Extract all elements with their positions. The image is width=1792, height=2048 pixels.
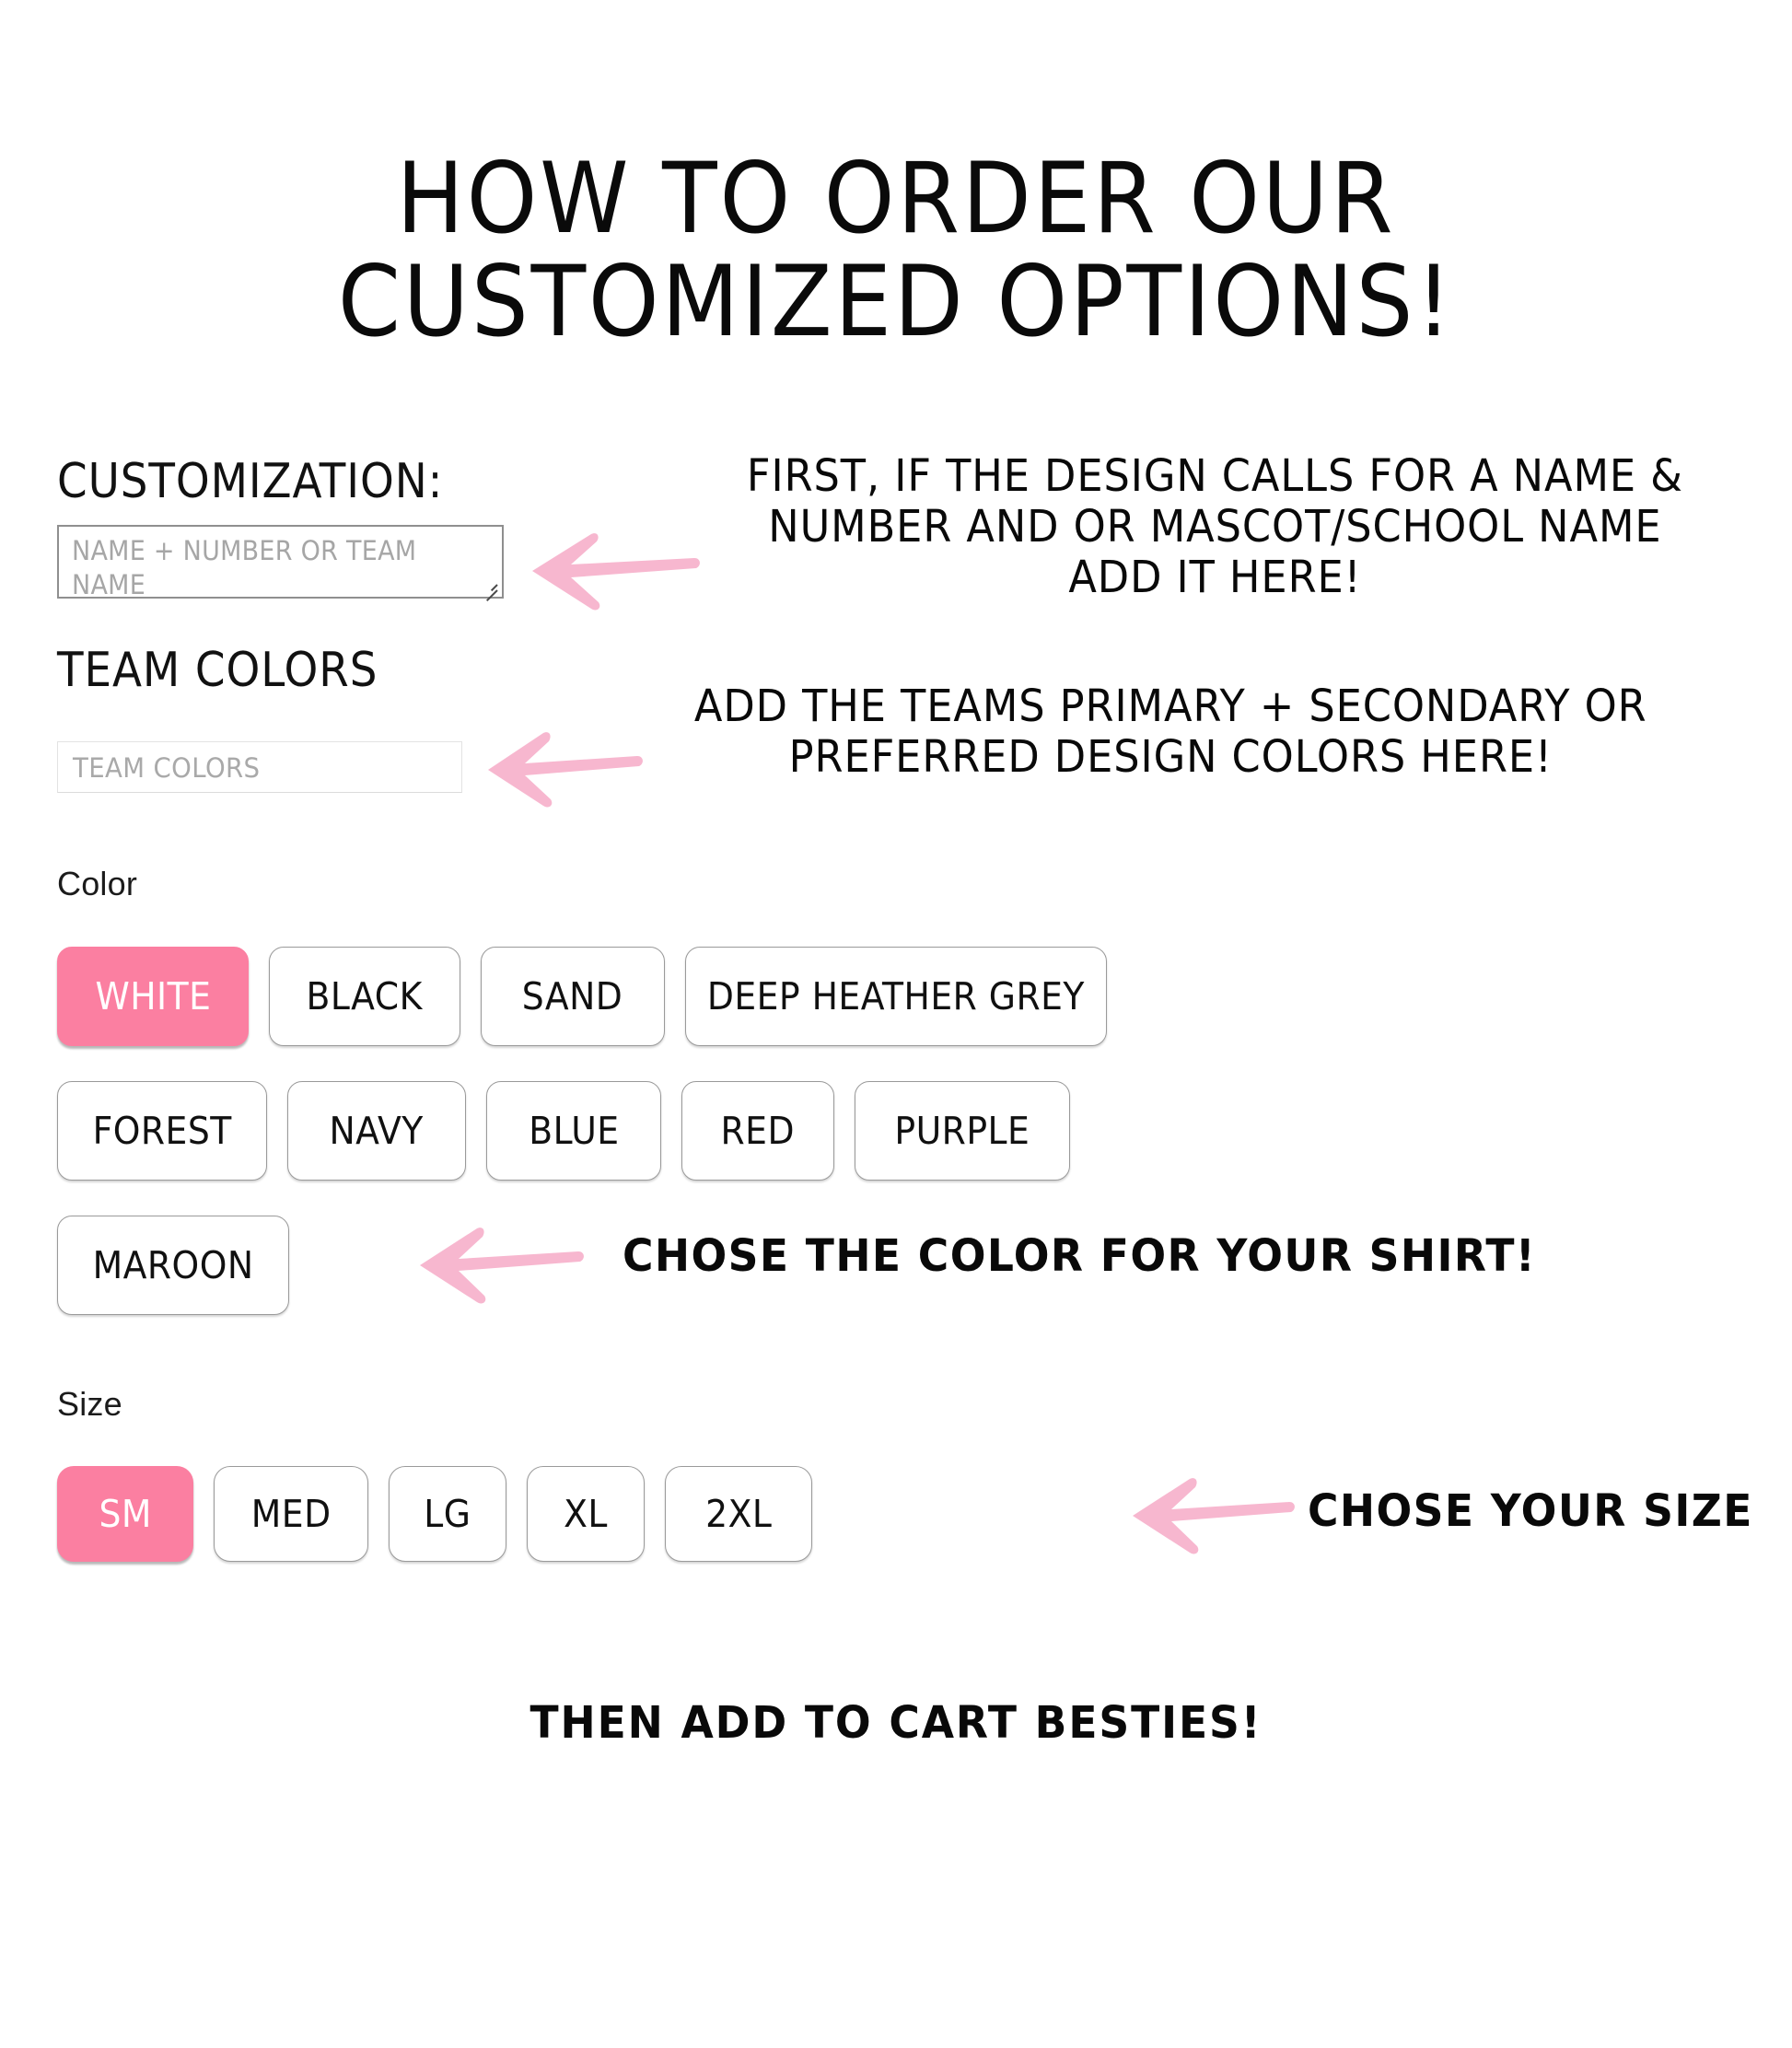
arrow-left-icon — [523, 523, 704, 619]
size-option-2xl[interactable]: 2XL — [665, 1466, 812, 1562]
annotation-team-colors: ADD THE TEAMS PRIMARY + SECONDARY OR PRE… — [635, 681, 1706, 783]
color-option-black[interactable]: BLACK — [269, 947, 460, 1046]
color-option-white[interactable]: WHITE — [57, 947, 249, 1046]
team-colors-heading: TEAM COLORS — [57, 645, 378, 696]
color-option-purple[interactable]: PURPLE — [855, 1081, 1070, 1181]
page-title: HOW TO ORDER OUR CUSTOMIZED OPTIONS! — [72, 147, 1720, 354]
color-options-row-2: FOREST NAVY BLUE RED PURPLE — [57, 1081, 1090, 1181]
how-to-order-infographic: HOW TO ORDER OUR CUSTOMIZED OPTIONS! CUS… — [0, 0, 1792, 2048]
arrow-left-icon — [1125, 1470, 1298, 1562]
size-option-xl[interactable]: XL — [527, 1466, 645, 1562]
color-option-maroon[interactable]: MAROON — [57, 1216, 289, 1315]
resize-handle-icon[interactable] — [479, 575, 499, 595]
customization-heading: CUSTOMIZATION: — [57, 456, 443, 507]
arrow-left-icon — [413, 1219, 588, 1311]
color-option-label: Color — [57, 866, 137, 902]
color-options-row-1: WHITE BLACK SAND DEEP HEATHER GREY — [57, 947, 1127, 1046]
team-colors-input-placeholder: TEAM COLORS — [73, 752, 260, 784]
color-option-red[interactable]: RED — [681, 1081, 834, 1181]
annotation-color: CHOSE THE COLOR FOR YOUR SHIRT! — [623, 1231, 1536, 1281]
color-option-forest[interactable]: FOREST — [57, 1081, 267, 1181]
customization-textarea-placeholder: NAME + NUMBER OR TEAM NAME — [72, 534, 458, 602]
size-option-med[interactable]: MED — [214, 1466, 368, 1562]
size-option-lg[interactable]: LG — [389, 1466, 506, 1562]
annotation-size: CHOSE YOUR SIZE — [1308, 1486, 1753, 1536]
color-options-row-3: MAROON — [57, 1216, 309, 1315]
size-options-row: SM MED LG XL 2XL — [57, 1466, 832, 1562]
color-option-blue[interactable]: BLUE — [486, 1081, 661, 1181]
size-option-sm[interactable]: SM — [57, 1466, 193, 1562]
annotation-footer: THEN ADD TO CART BESTIES! — [45, 1697, 1748, 1749]
arrow-left-icon — [481, 726, 646, 814]
color-option-sand[interactable]: SAND — [481, 947, 665, 1046]
color-option-deep-heather-grey[interactable]: DEEP HEATHER GREY — [685, 947, 1107, 1046]
size-option-label: Size — [57, 1386, 122, 1423]
team-colors-input[interactable]: TEAM COLORS — [57, 741, 462, 793]
color-option-navy[interactable]: NAVY — [287, 1081, 466, 1181]
annotation-customization: FIRST, IF THE DESIGN CALLS FOR A NAME & … — [718, 451, 1712, 603]
customization-textarea[interactable]: NAME + NUMBER OR TEAM NAME — [57, 525, 504, 599]
